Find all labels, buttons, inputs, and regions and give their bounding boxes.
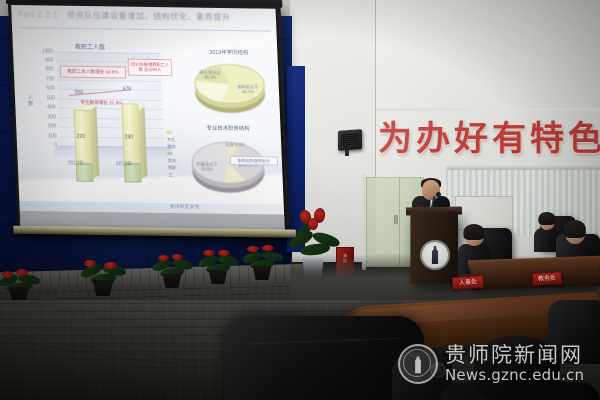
x-category-label: 2013年: [116, 160, 132, 167]
red-bloom: [16, 269, 28, 276]
slide-footer-text: 贵州师范学院: [170, 204, 200, 210]
wall-board: [455, 196, 513, 230]
speaker-bracket: [345, 150, 349, 156]
y-tick: 900: [35, 57, 53, 63]
nameplate-academic: 教务处: [532, 271, 563, 286]
legend-entry: 其他教职工: [167, 150, 178, 178]
microphone-icon: [436, 192, 441, 197]
red-bloom: [308, 218, 318, 230]
red-bloom: [262, 245, 274, 251]
watermark-chinese: 贵师院新闻网: [445, 344, 584, 366]
y-tick: 0: [39, 142, 57, 148]
x-category-label: 2012年: [68, 160, 84, 167]
red-bloom: [203, 250, 215, 256]
bar-value-label: 220: [77, 134, 86, 140]
red-bloom: [2, 271, 13, 278]
y-tick: 800: [36, 66, 54, 72]
y-tick: 300: [38, 114, 56, 120]
pie-slice-label: 本科及以下 34.7%: [233, 84, 263, 94]
red-bloom: [104, 262, 117, 269]
slide-title-text: 师资队伍建设量增加、结构优化、素质提升: [67, 11, 231, 22]
podium-speaker-head: [422, 180, 440, 200]
nameplate-personnel: 人事处: [452, 275, 485, 290]
pie-chart-1-title: 2013年学历结构: [209, 48, 248, 57]
flower-pot: [160, 274, 184, 288]
red-bloom: [172, 254, 183, 260]
school-seal-icon: [398, 344, 438, 384]
watermark-url: News.gznc.edu.cn: [445, 368, 584, 384]
pie-slice-label: 中级及以下 62.5%: [192, 161, 222, 171]
door-center-seam: [399, 178, 400, 266]
bar-value-label: 230: [125, 134, 134, 140]
pie-slice-label: 正高 9.1%: [223, 142, 247, 147]
legend-swatch: [167, 131, 172, 134]
presentation-slide: Part 2.2.1 师资队伍建设量增加、结构优化、素质提升 教职工人数 人数: [11, 5, 285, 232]
chart-legend: 专任教师 其他教职工: [166, 129, 178, 178]
photo-scene: 为办好有特色 Part 2.2.1 师资队伍建设量增加、结构优化、素质提升 教职…: [0, 0, 600, 400]
y-tick: 200: [38, 123, 56, 129]
flower-pot: [250, 266, 274, 280]
red-bloom: [158, 255, 169, 261]
potted-plant: [0, 262, 44, 302]
y-axis-label: 人数: [26, 95, 36, 107]
speaker-grill: [341, 132, 359, 146]
bar-chart: 教职工人数 人数 1000 900 800 700 600: [23, 41, 179, 183]
wall-slogan-text: 为办好有特色: [378, 118, 600, 160]
slide-heading: Part 2.2.1 师资队伍建设量增加、结构优化、素质提升: [17, 9, 270, 39]
new-hires-callout: 2013年新增教职工人数 总计96人: [127, 59, 172, 76]
hair: [463, 224, 484, 240]
slide-part-label: Part 2.2.1: [17, 10, 58, 20]
flower-pot: [90, 280, 116, 296]
pie-slice-label: 硕士及以上 65.3%: [196, 70, 224, 80]
projection-screen: Part 2.2.1 师资队伍建设量增加、结构优化、素质提升 教职工人数 人数: [8, 2, 290, 238]
red-bloom: [84, 260, 96, 267]
growth-callout: 教职工总人数增长 16.8%: [60, 66, 127, 79]
y-tick: 1000: [35, 48, 53, 54]
door-handle[interactable]: [394, 215, 398, 224]
legend-label: 其他教职工: [168, 158, 177, 177]
flower-pot: [206, 270, 230, 284]
red-bloom: [247, 246, 259, 252]
y-tick: 400: [37, 104, 55, 110]
y-tick: 500: [37, 95, 55, 101]
pie-chart-1: 硕士及以上 65.3% 本科及以下 34.7%: [192, 59, 268, 110]
bar-chart-title: 教职工人数: [75, 42, 105, 51]
teacher-growth-label: 专任教师增长 21.8%: [65, 100, 137, 107]
wall-molding: [376, 108, 600, 111]
potted-plant: [78, 252, 128, 296]
hair: [564, 220, 586, 238]
red-bloom: [218, 250, 230, 256]
watermark-text: 贵师院新闻网 News.gznc.edu.cn: [445, 344, 584, 384]
y-tick: 600: [37, 85, 55, 91]
y-tick: 700: [36, 76, 54, 82]
y-tick: 100: [39, 133, 57, 139]
potted-plant: [150, 248, 196, 288]
legend-label: 专任教师: [167, 137, 176, 149]
legend-entry: 专任教师: [166, 129, 177, 150]
legend-swatch: [167, 152, 172, 155]
potted-plant: [196, 244, 242, 284]
hair: [538, 212, 555, 225]
potted-plant: [240, 240, 286, 280]
pie-callout: 职称结构逐年优化: [230, 156, 278, 166]
watermark: 贵师院新闻网 News.gznc.edu.cn: [398, 344, 584, 384]
pie-chart-2-title: 专业技术职务结构: [206, 124, 250, 133]
